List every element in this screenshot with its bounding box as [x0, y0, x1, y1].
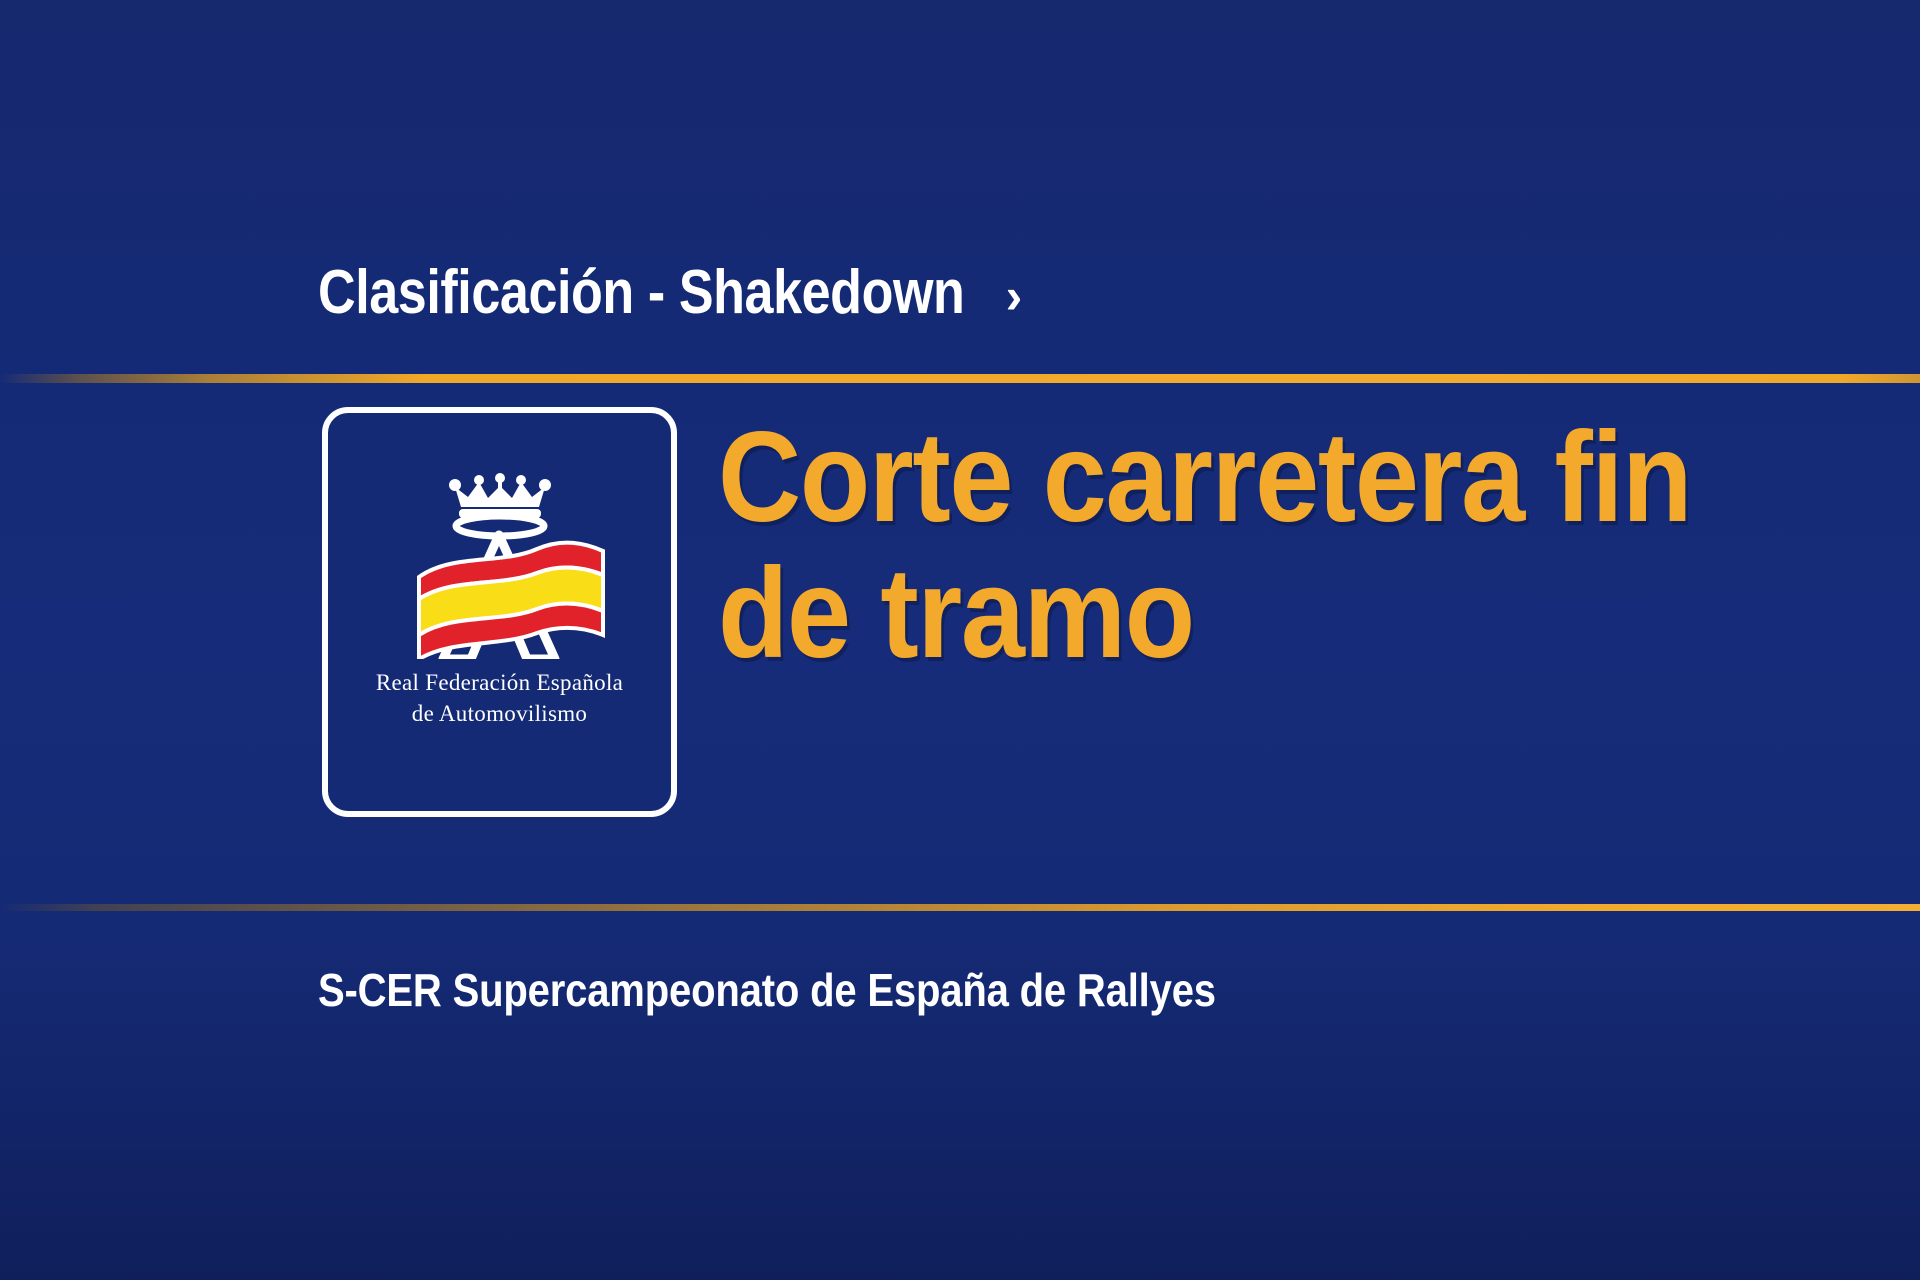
- headline-line-1: Corte carretera fin: [718, 410, 1807, 546]
- rfea-logo-plate: Real Federación Española de Automovilism…: [322, 407, 677, 817]
- headline-line-2: de tramo: [718, 546, 1807, 682]
- slide-root: Clasificación - Shakedown ›: [0, 0, 1920, 1280]
- divider-top: [0, 374, 1920, 383]
- breadcrumb[interactable]: Clasificación - Shakedown ›: [318, 262, 1022, 324]
- rfea-crown-flag-a-icon: [375, 469, 625, 659]
- headline: Corte carretera fin de tramo: [718, 410, 1920, 681]
- rfea-caption-line-1: Real Federación Española: [376, 667, 623, 698]
- divider-bottom: [0, 904, 1920, 911]
- series-caption: S-CER Supercampeonato de España de Rally…: [318, 963, 1216, 1017]
- content-card: Clasificación - Shakedown ›: [0, 330, 1920, 1000]
- chevron-right-icon: ›: [1006, 271, 1023, 321]
- rfea-caption-line-2: de Automovilismo: [376, 698, 623, 729]
- breadcrumb-label[interactable]: Clasificación - Shakedown: [318, 262, 964, 324]
- rfea-logo-caption: Real Federación Española de Automovilism…: [376, 667, 623, 729]
